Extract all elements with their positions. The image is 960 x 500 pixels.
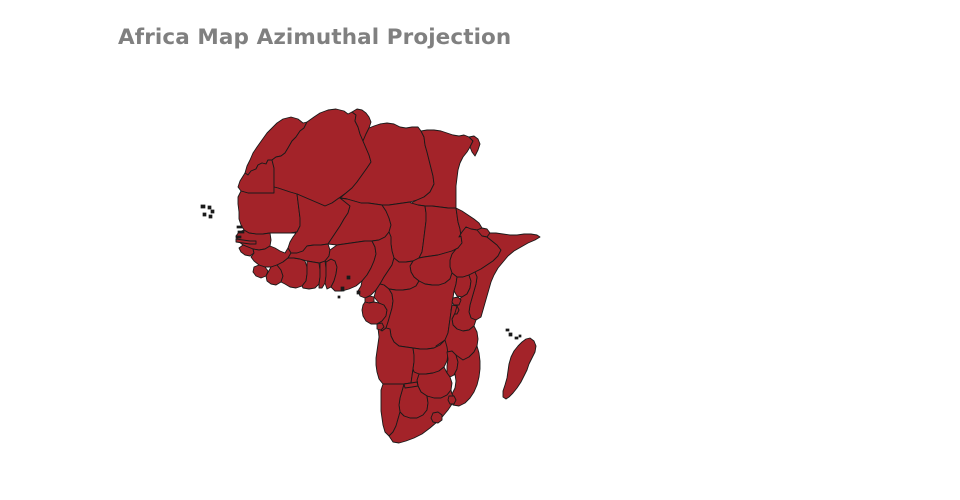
country-cape-verde-3[interactable] bbox=[211, 210, 214, 213]
country-cape-verde-5[interactable] bbox=[209, 215, 212, 218]
country-cape-verde-4[interactable] bbox=[203, 213, 206, 216]
mainland-africa-layer bbox=[236, 109, 540, 443]
country-rwanda[interactable] bbox=[452, 297, 461, 305]
island-comoros-3[interactable] bbox=[519, 335, 521, 337]
island-nw-islet-2[interactable] bbox=[238, 231, 244, 233]
figure-canvas: Africa Map Azimuthal Projection bbox=[0, 0, 960, 500]
island-nw-islet-3[interactable] bbox=[236, 236, 241, 238]
feature-sinai-peninsula[interactable] bbox=[469, 136, 480, 156]
country-cape-verde-2[interactable] bbox=[208, 206, 211, 209]
country-madagascar[interactable] bbox=[503, 338, 536, 399]
country-lesotho[interactable] bbox=[431, 412, 442, 423]
island-comoros-2[interactable] bbox=[515, 337, 518, 339]
island-principe[interactable] bbox=[347, 276, 350, 279]
country-comoros[interactable] bbox=[509, 333, 512, 336]
island-bioko[interactable] bbox=[357, 291, 360, 294]
country-mauritania[interactable] bbox=[238, 187, 300, 234]
country-eswatini[interactable] bbox=[448, 396, 456, 404]
island-mascarene-1[interactable] bbox=[506, 329, 509, 331]
island-annobon[interactable] bbox=[338, 296, 340, 298]
africa-map[interactable] bbox=[0, 0, 960, 500]
island-nw-islet-1[interactable] bbox=[237, 226, 242, 228]
island-sao-tome[interactable] bbox=[341, 287, 344, 291]
country-cape-verde-1[interactable] bbox=[201, 205, 205, 208]
